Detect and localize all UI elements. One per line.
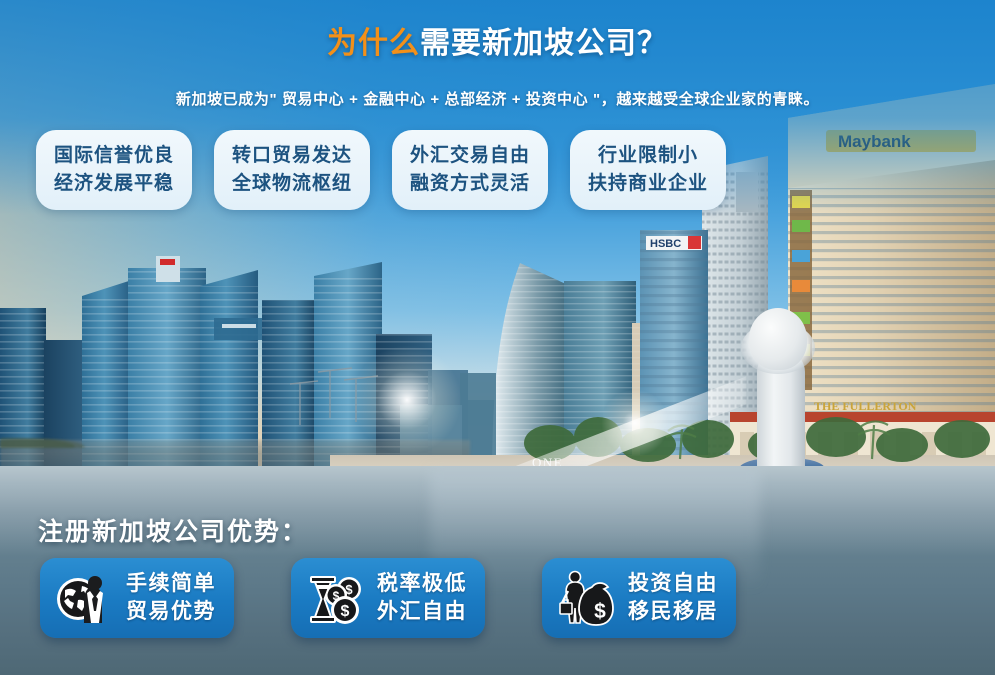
feature-card-1-line1: 国际信誉优良 <box>54 142 174 170</box>
feature-card-2-line1: 转口贸易发达 <box>232 142 352 170</box>
advantage-pill-2-text: 税率极低 外汇自由 <box>377 570 467 627</box>
page-subtitle: 新加坡已成为" 贸易中心 + 金融中心 + 总部经济 + 投资中心 "，越来越受… <box>0 88 995 109</box>
banner-content: 为什么需要新加坡公司？ 新加坡已成为" 贸易中心 + 金融中心 + 总部经济 +… <box>0 0 995 675</box>
feature-card-4[interactable]: 行业限制小 扶持商业企业 <box>570 130 726 210</box>
feature-card-1-line2: 经济发展平稳 <box>54 170 174 198</box>
advantage-pill-3[interactable]: $ 投资自由 移民移居 <box>542 558 736 638</box>
feature-card-4-line1: 行业限制小 <box>588 142 708 170</box>
advantage-pill-1-text: 手续简单 贸易优势 <box>126 570 216 627</box>
advantage-pill-2-line1: 税率极低 <box>377 570 467 598</box>
singapore-company-banner: Maybank HSBC THE F <box>0 0 995 675</box>
advantage-pill-3-line1: 投资自由 <box>628 570 718 598</box>
hourglass-coins-icon: $ $ $ <box>305 567 367 629</box>
feature-card-1[interactable]: 国际信誉优良 经济发展平稳 <box>36 130 192 210</box>
advantage-pill-1-line1: 手续简单 <box>126 570 216 598</box>
advantages-heading: 注册新加坡公司优势： <box>38 512 308 548</box>
advantage-pill-1-line2: 贸易优势 <box>126 598 216 626</box>
advantage-pill-list: 手续简单 贸易优势 $ $ $ <box>40 558 736 638</box>
feature-card-2[interactable]: 转口贸易发达 全球物流枢纽 <box>214 130 370 210</box>
globe-businessman-icon <box>54 567 116 629</box>
feature-card-3-line1: 外汇交易自由 <box>410 142 530 170</box>
page-title-accent: 为什么 <box>327 27 420 60</box>
page-title: 为什么需要新加坡公司？ <box>0 18 995 62</box>
feature-card-2-line2: 全球物流枢纽 <box>232 170 352 198</box>
advantage-pill-3-line2: 移民移居 <box>628 598 718 626</box>
businessman-moneybag-icon: $ <box>556 567 618 629</box>
advantage-pill-2-line2: 外汇自由 <box>377 598 467 626</box>
advantage-pill-3-text: 投资自由 移民移居 <box>628 570 718 627</box>
feature-card-list: 国际信誉优良 经济发展平稳 转口贸易发达 全球物流枢纽 外汇交易自由 融资方式灵… <box>36 130 726 210</box>
feature-card-3[interactable]: 外汇交易自由 融资方式灵活 <box>392 130 548 210</box>
svg-text:$: $ <box>594 600 606 623</box>
feature-card-4-line2: 扶持商业企业 <box>588 170 708 198</box>
page-title-rest: 需要新加坡公司？ <box>420 27 668 60</box>
feature-card-3-line2: 融资方式灵活 <box>410 170 530 198</box>
advantage-pill-1[interactable]: 手续简单 贸易优势 <box>40 558 234 638</box>
svg-text:$: $ <box>341 603 350 620</box>
advantage-pill-2[interactable]: $ $ $ 税率极低 外汇自由 <box>291 558 485 638</box>
